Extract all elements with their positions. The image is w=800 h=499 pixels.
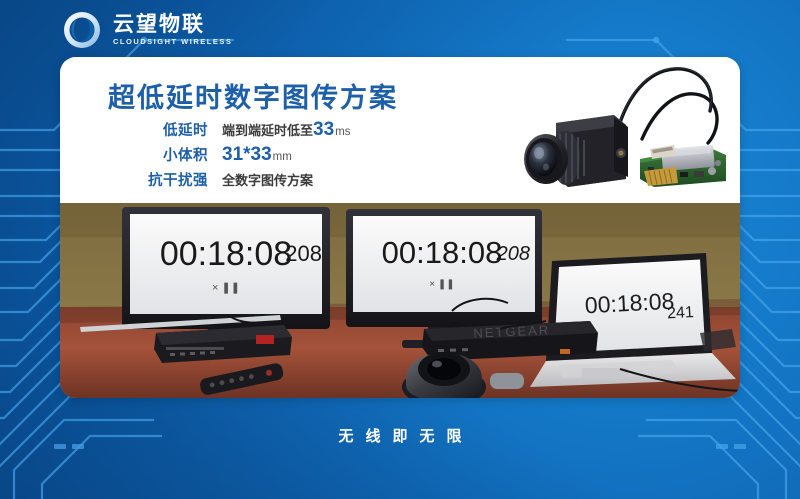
monitor-right-controls: × ❚❚: [429, 279, 454, 290]
content-card: 超低延时数字图传方案 低延时 端到端延时低至 33 ms 小体积 31*33: [60, 57, 740, 398]
spec-list: 低延时 端到端延时低至 33 ms 小体积 31*33 mm: [100, 119, 351, 194]
spec-label: 低延时: [100, 119, 208, 140]
monitor-left-controls: × ❚❚: [212, 282, 240, 294]
footer-tagline: 无线即无限: [0, 425, 800, 446]
spec-number: 31*33: [222, 144, 272, 166]
spec-row-latency: 低延时 端到端延时低至 33 ms: [100, 119, 351, 144]
spec-unit: mm: [273, 151, 292, 163]
product-image-camera-module: [502, 57, 732, 205]
laptop-time: 00:18:08: [584, 288, 675, 319]
monitor-left-time: 00:18:08: [160, 235, 292, 273]
laptop-ms: 241: [667, 304, 695, 322]
brand-name-en: CLOUDSIGHT WIRELESS: [113, 38, 232, 46]
spec-row-size: 小体积 31*33 mm: [100, 144, 351, 169]
monitor-left-ms: 208: [285, 241, 322, 266]
spec-label: 抗干扰强: [100, 169, 208, 190]
spec-prefix: 端到端延时低至: [222, 120, 313, 139]
page-title: 超低延时数字图传方案: [108, 76, 398, 115]
spec-value: 端到端延时低至 33 ms: [222, 119, 351, 141]
monitor-right-time: 00:18:08: [382, 235, 503, 270]
spec-label: 小体积: [100, 144, 208, 165]
spec-number: 33: [313, 119, 334, 141]
brand-logo: 云望物联 CLOUDSIGHT WIRELESS: [62, 8, 232, 52]
spec-row-interference: 抗干扰强 全数字图传方案: [100, 169, 351, 194]
spec-value: 全数字图传方案: [222, 170, 314, 189]
spec-prefix: 全数字图传方案: [222, 170, 313, 189]
latency-demo-photo: 00:18:08 × ❚❚ 208 00:18:08 × ❚❚ 208: [60, 203, 740, 398]
card-top-section: 超低延时数字图传方案 低延时 端到端延时低至 33 ms 小体积 31*33: [60, 57, 740, 203]
brand-text: 云望物联 CLOUDSIGHT WIRELESS: [113, 14, 232, 46]
poster-root: 云望物联 CLOUDSIGHT WIRELESS 超低延时数字图传方案 低延时 …: [0, 0, 800, 499]
cloud-swirl-logo-icon: [62, 10, 102, 50]
spec-unit: ms: [335, 126, 350, 138]
brand-name-cn: 云望物联: [113, 14, 232, 36]
monitor-right-ms: 208: [496, 243, 530, 265]
spec-value: 31*33 mm: [222, 144, 292, 166]
